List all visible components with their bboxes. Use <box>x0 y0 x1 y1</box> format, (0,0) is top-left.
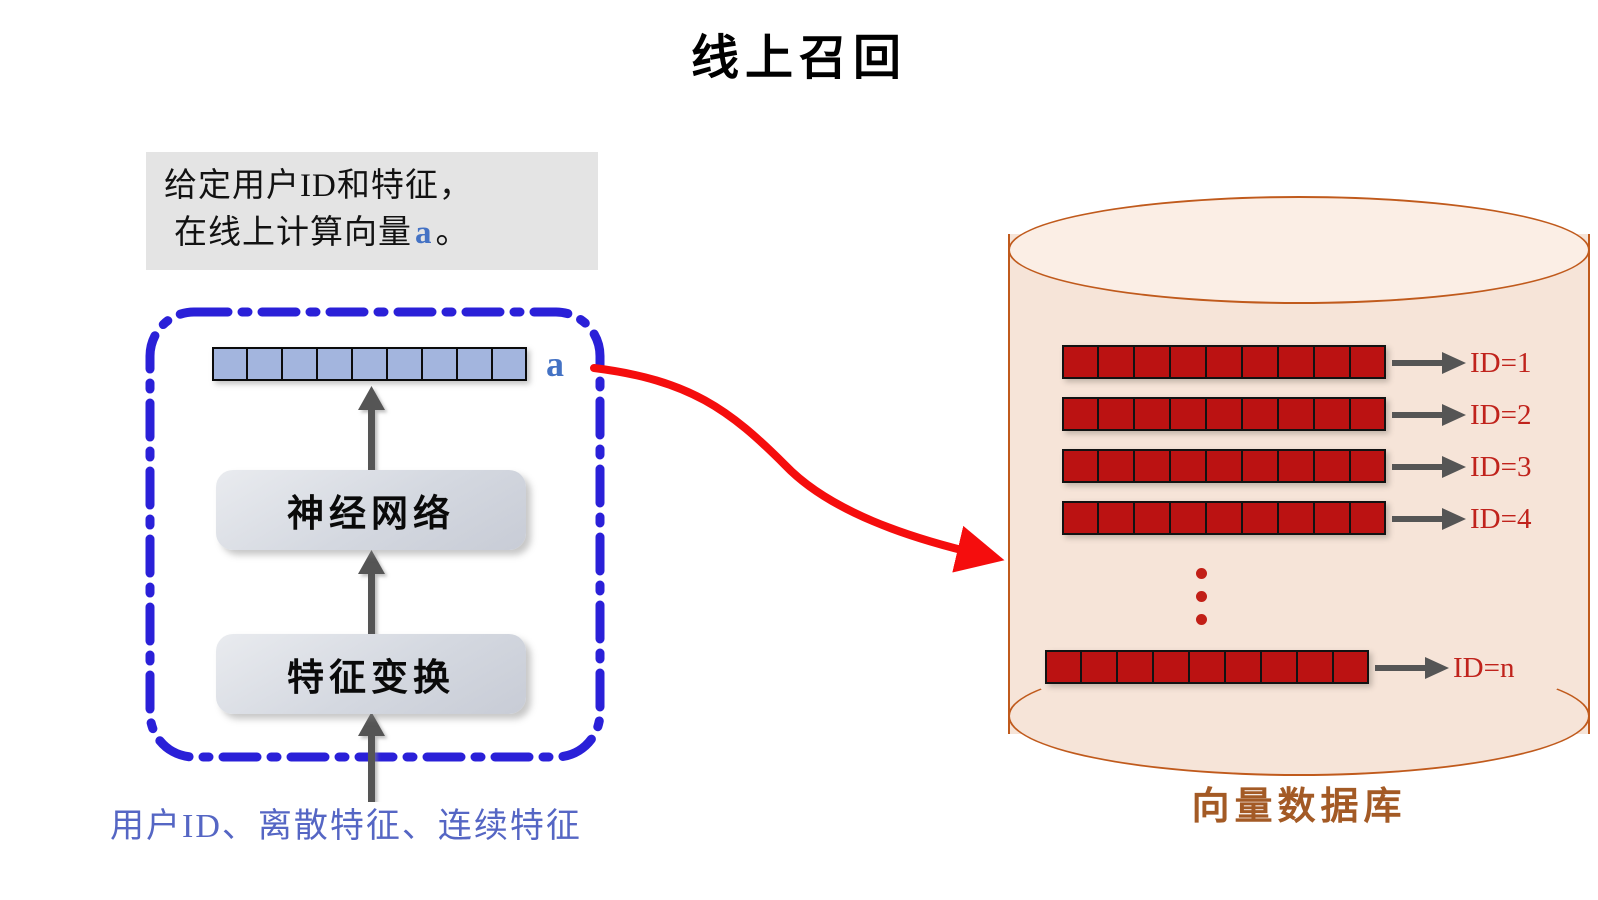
red-flow-arrow <box>580 340 1010 580</box>
db-cell <box>1134 501 1170 535</box>
db-cell <box>1062 501 1098 535</box>
arrow-up-input-to-ft <box>352 712 392 802</box>
db-cell <box>1333 650 1369 684</box>
db-cell <box>1206 345 1242 379</box>
caption-line-2: 在线上计算向量a。 <box>164 210 582 257</box>
db-cell <box>1098 345 1134 379</box>
db-cell <box>1350 501 1386 535</box>
db-cell <box>1314 345 1350 379</box>
db-cell <box>1350 345 1386 379</box>
vector-cell <box>352 347 387 381</box>
db-ellipsis <box>1196 568 1212 637</box>
vector-database-cylinder <box>1008 196 1590 786</box>
caption-line-2-prefix: 在线上计算向量 <box>174 215 412 251</box>
db-cell <box>1314 501 1350 535</box>
db-cell <box>1206 501 1242 535</box>
db-id-label: ID=3 <box>1470 451 1531 484</box>
feature-transform-box: 特征变换 <box>216 634 526 714</box>
cylinder-top-ellipse <box>1008 196 1590 304</box>
db-id-label: ID=2 <box>1470 399 1531 432</box>
db-cell <box>1278 397 1314 431</box>
caption-line-1: 给定用户ID和特征， <box>164 163 582 210</box>
input-features-caption: 用户ID、离散特征、连续特征 <box>110 798 582 847</box>
db-id-label: ID=4 <box>1470 503 1531 536</box>
arrow-up-nn-to-vector <box>352 386 392 474</box>
db-cell <box>1098 449 1134 483</box>
db-cell <box>1261 650 1297 684</box>
ellipsis-dot <box>1196 614 1207 625</box>
diagram-canvas: 线上召回 给定用户ID和特征， 在线上计算向量a。 a <box>0 0 1598 900</box>
db-vector-row <box>1062 501 1386 535</box>
arrow-db-row-1 <box>1392 352 1466 374</box>
vector-cell <box>247 347 282 381</box>
caption-box: 给定用户ID和特征， 在线上计算向量a。 <box>146 152 598 270</box>
db-vector-row <box>1045 650 1369 684</box>
arrow-db-row-3 <box>1392 456 1466 478</box>
db-cell <box>1170 397 1206 431</box>
arrow-db-row-4 <box>1392 508 1466 530</box>
vector-cell <box>387 347 422 381</box>
db-cell <box>1081 650 1117 684</box>
caption-line-2-suffix: 。 <box>436 215 470 251</box>
db-id-label: ID=1 <box>1470 347 1531 380</box>
ellipsis-dot <box>1196 568 1207 579</box>
db-cell <box>1189 650 1225 684</box>
output-vector-a <box>212 347 527 381</box>
vector-cell <box>422 347 457 381</box>
db-cell <box>1278 501 1314 535</box>
db-cell <box>1098 501 1134 535</box>
neural-network-box: 神经网络 <box>216 470 526 550</box>
db-vector-row <box>1062 345 1386 379</box>
db-cell <box>1350 449 1386 483</box>
db-cell <box>1314 397 1350 431</box>
db-cell <box>1170 345 1206 379</box>
db-cell <box>1098 397 1134 431</box>
ellipsis-dot <box>1196 591 1207 602</box>
db-cell <box>1242 501 1278 535</box>
db-cell <box>1278 449 1314 483</box>
arrow-up-ft-to-nn <box>352 550 392 640</box>
db-cell <box>1206 449 1242 483</box>
vector-database-caption: 向量数据库 <box>1008 775 1590 830</box>
caption-vector-symbol: a <box>412 215 436 251</box>
db-cell <box>1134 449 1170 483</box>
db-cell <box>1117 650 1153 684</box>
page-title: 线上召回 <box>0 18 1598 88</box>
output-vector-label: a <box>546 343 564 385</box>
db-cell <box>1134 397 1170 431</box>
db-cell <box>1170 501 1206 535</box>
db-vector-row <box>1062 449 1386 483</box>
db-cell <box>1170 449 1206 483</box>
db-cell <box>1225 650 1261 684</box>
db-cell <box>1045 650 1081 684</box>
vector-cell <box>492 347 527 381</box>
db-cell <box>1278 345 1314 379</box>
vector-cell <box>282 347 317 381</box>
db-cell <box>1062 449 1098 483</box>
db-id-label: ID=n <box>1453 652 1514 685</box>
db-cell <box>1062 345 1098 379</box>
vector-cell <box>457 347 492 381</box>
vector-cell <box>317 347 352 381</box>
db-cell <box>1153 650 1189 684</box>
db-vector-row <box>1062 397 1386 431</box>
arrow-db-row-n <box>1375 657 1449 679</box>
db-cell <box>1350 397 1386 431</box>
db-cell <box>1297 650 1333 684</box>
db-cell <box>1206 397 1242 431</box>
db-cell <box>1062 397 1098 431</box>
db-cell <box>1242 345 1278 379</box>
db-cell <box>1242 449 1278 483</box>
vector-cell <box>212 347 247 381</box>
db-cell <box>1242 397 1278 431</box>
db-cell <box>1314 449 1350 483</box>
db-cell <box>1134 345 1170 379</box>
arrow-db-row-2 <box>1392 404 1466 426</box>
